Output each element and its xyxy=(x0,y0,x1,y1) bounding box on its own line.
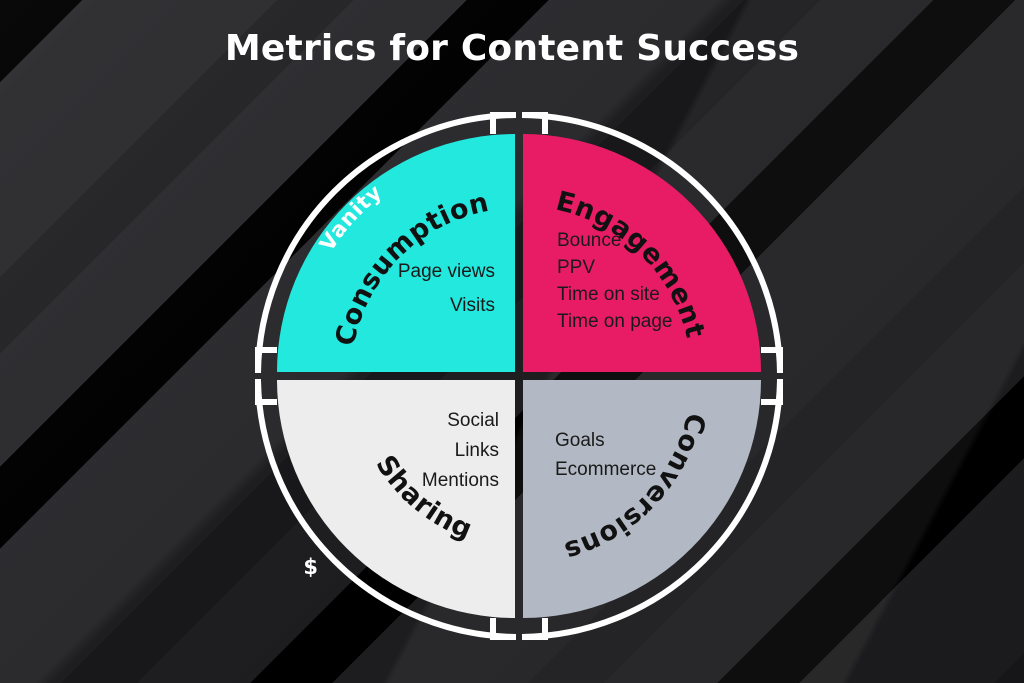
metric-item: Links xyxy=(422,436,499,466)
metric-item: Page views xyxy=(398,255,495,289)
metric-item: Time on site xyxy=(557,281,672,308)
metric-list-consumption: Page views Visits xyxy=(398,255,495,323)
bracket-bottom-right xyxy=(522,618,545,637)
metric-item: Mentions xyxy=(422,466,499,496)
metric-list-sharing: Social Links Mentions xyxy=(422,406,499,496)
metric-list-conversions: Goals Ecommerce xyxy=(555,426,656,484)
wheel-svg: Consumption Engagement Sharing Conversio… xyxy=(239,96,799,656)
infographic-canvas: Metrics for Content Success xyxy=(0,0,1024,683)
bracket-right-top xyxy=(761,350,780,373)
metric-item: Bounce xyxy=(557,227,672,254)
page-title: Metrics for Content Success xyxy=(0,28,1024,69)
outer-ring-group xyxy=(258,115,780,637)
bracket-right-bottom xyxy=(761,379,780,402)
ring-label-dollar: $ xyxy=(303,555,318,579)
bracket-bottom-left xyxy=(493,618,516,637)
bracket-left-bottom xyxy=(258,379,277,402)
bracket-top-right xyxy=(522,115,545,134)
metric-item: Ecommerce xyxy=(555,455,656,484)
metric-item: Visits xyxy=(398,289,495,323)
quadrant-wheel-diagram: Consumption Engagement Sharing Conversio… xyxy=(239,96,799,656)
metric-item: Time on page xyxy=(557,308,672,335)
metric-item: PPV xyxy=(557,254,672,281)
metric-item: Social xyxy=(422,406,499,436)
metric-item: Goals xyxy=(555,426,656,455)
metric-list-engagement: Bounce PPV Time on site Time on page xyxy=(557,227,672,335)
bracket-left-top xyxy=(258,350,277,373)
bracket-top-left xyxy=(493,115,516,134)
